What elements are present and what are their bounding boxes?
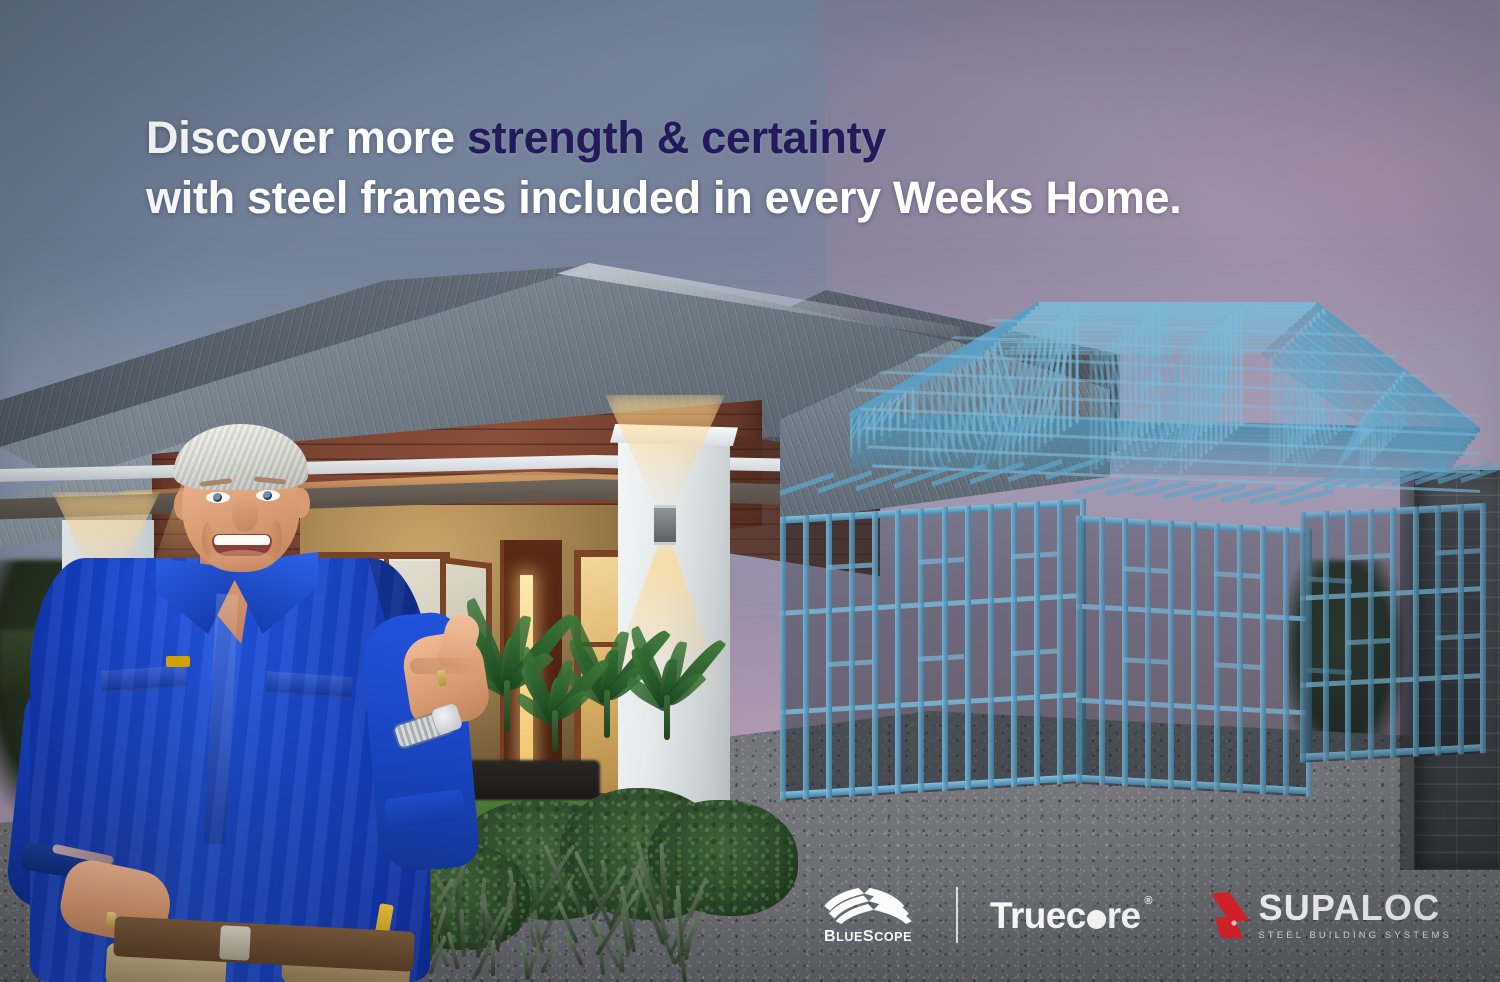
partner-logo-lockup: BLUESCOPE Truecre ® SUPALOC STEEL BUILDI… [812,880,1452,950]
truecore-registered-mark: ® [1144,895,1152,907]
truecore-dot-icon [1087,910,1106,929]
supaloc-slash-icon [1209,890,1255,940]
truecore-logo: Truecre ® [990,897,1153,934]
presenter-smile-line-right [270,520,282,554]
presenter-chin [210,550,274,572]
supaloc-tagline: STEEL BUILDING SYSTEMS [1259,930,1453,941]
presenter-nose [232,500,258,532]
supaloc-logo: SUPALOC STEEL BUILDING SYSTEMS [1209,890,1453,941]
headline: Discover more strength & certainty with … [146,108,1366,228]
truecore-wordmark: Truecre [990,897,1141,934]
bluescope-wordmark: BLUESCOPE [824,928,912,946]
bluescope-logo: BLUESCOPE [812,885,924,946]
presenter-shirt-brand-badge [166,656,190,667]
presenter-right-knuckles [410,658,482,674]
banner-advertisement: Discover more strength & certainty with … [0,0,1500,982]
supaloc-text-block: SUPALOC STEEL BUILDING SYSTEMS [1259,890,1453,941]
presenter-teeth [214,535,270,545]
logo-divider [956,887,958,943]
bluescope-waves-icon [820,885,916,925]
presenter-eye-right [256,490,280,501]
presenter-eye-left [206,492,230,503]
tradesman-presenter [14,418,494,982]
headline-line1-prefix: Discover more [146,112,467,163]
presenter-belt-buckle [219,925,251,961]
supaloc-wordmark: SUPALOC [1259,890,1453,926]
headline-accent-phrase: strength & certainty [467,112,886,163]
presenter-hair-texture [174,424,308,490]
headline-line2: with steel frames included in every Week… [146,168,1366,228]
